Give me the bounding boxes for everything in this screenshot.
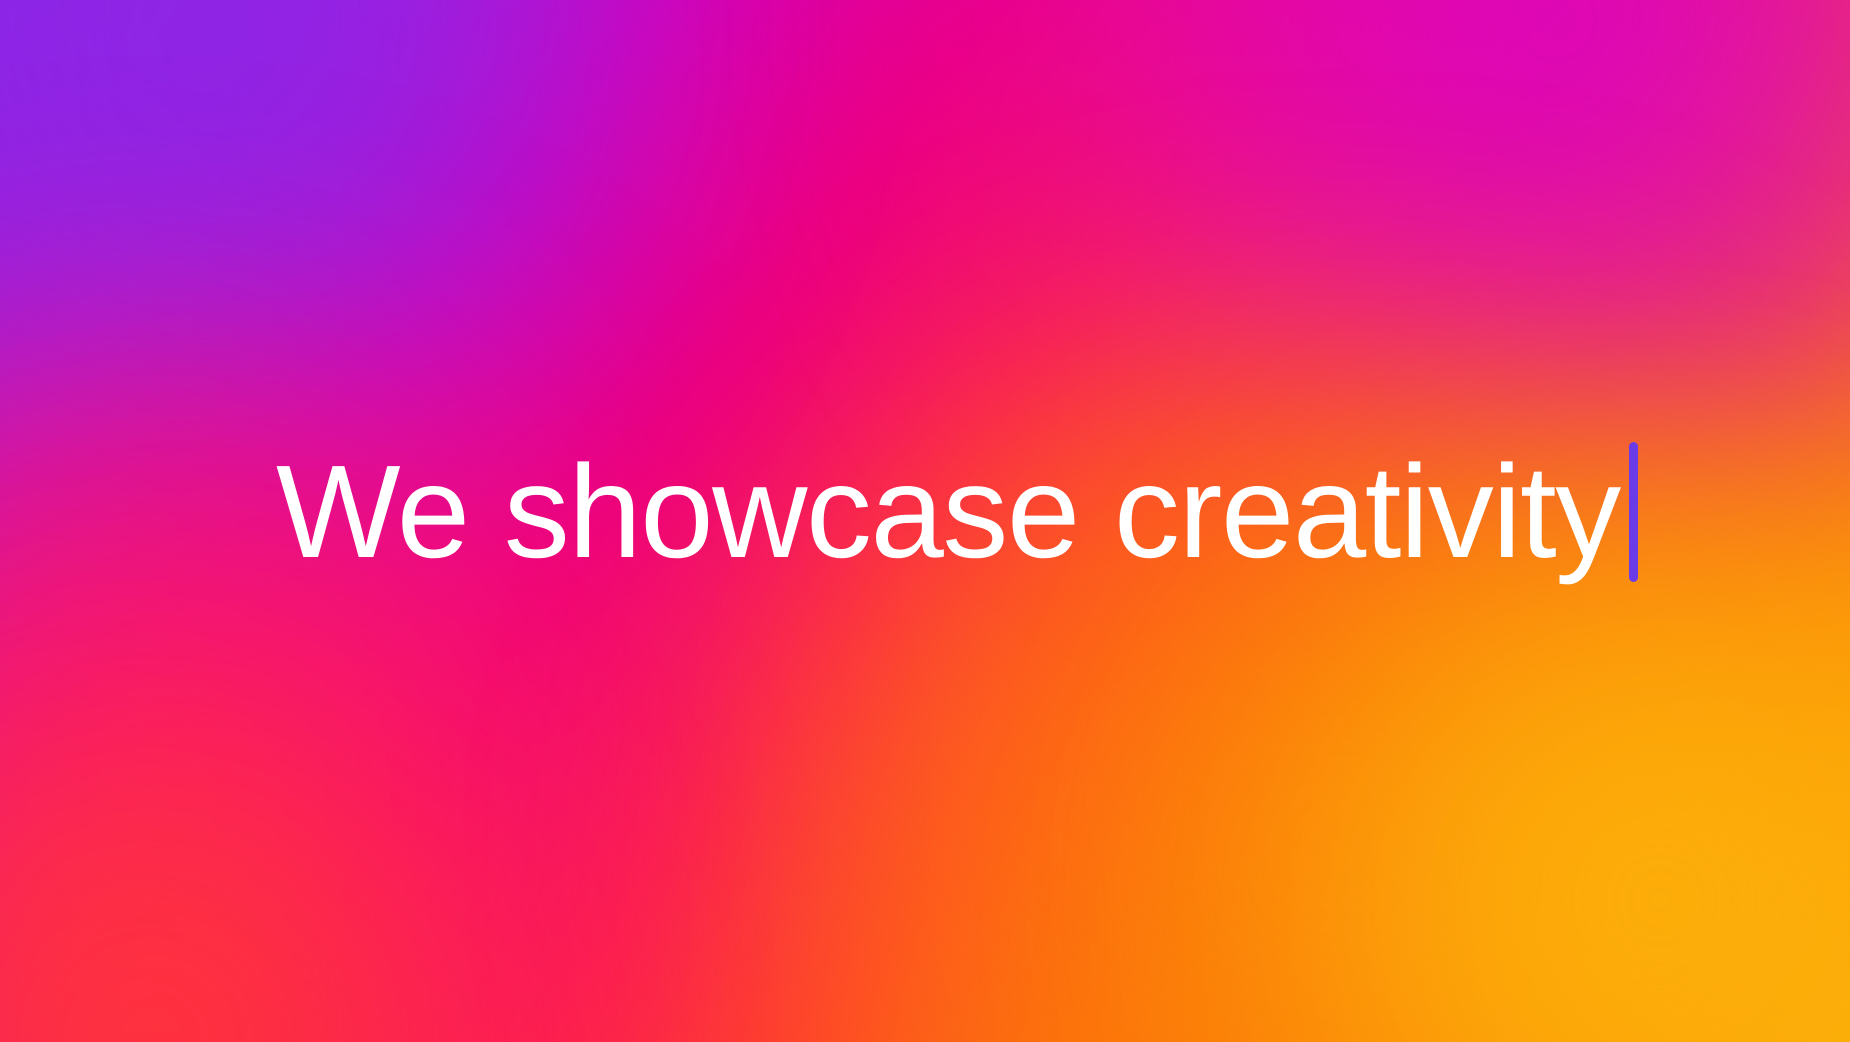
gradient-slide: We showcase creativity: [0, 0, 1850, 1042]
headline-container: We showcase creativity: [0, 0, 1850, 1042]
text-cursor-caret: [1629, 442, 1638, 582]
headline-text: We showcase creativity: [276, 442, 1620, 582]
headline[interactable]: We showcase creativity: [276, 442, 1638, 582]
